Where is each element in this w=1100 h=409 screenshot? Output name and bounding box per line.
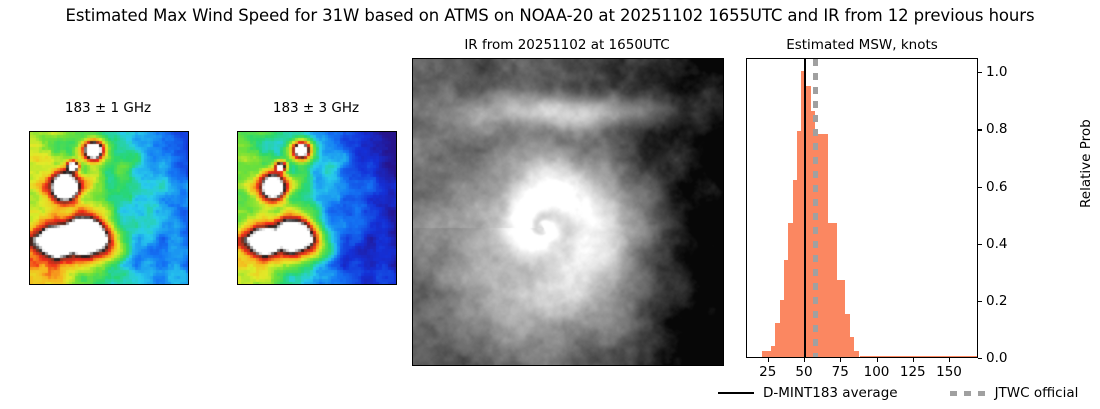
dotted-line-swatch-icon [950, 391, 986, 396]
histogram-title: Estimated MSW, knots [746, 37, 978, 53]
x-axis-tick [768, 358, 769, 362]
legend-label-jtwc: JTWC official [995, 385, 1079, 401]
y-axis-tick [978, 72, 982, 73]
y-axis-tick-label: 0.0 [986, 350, 1007, 366]
x-axis-tick-label: 100 [864, 364, 890, 380]
y-axis-label: Relative Prob [1078, 119, 1094, 208]
y-axis-tick-label: 1.0 [986, 64, 1007, 80]
x-axis-tick [949, 358, 950, 362]
x-axis-tick-label: 25 [759, 364, 776, 380]
y-axis-tick [978, 129, 982, 130]
microwave-1-title: 183 ± 1 GHz [28, 100, 188, 116]
histogram-baseline-tail [860, 356, 977, 358]
solid-line-swatch-icon [718, 392, 754, 394]
y-axis-tick-label: 0.8 [986, 121, 1007, 137]
figure-canvas: Estimated Max Wind Speed for 31W based o… [0, 0, 1100, 409]
jtwc-official-line [813, 59, 818, 357]
y-axis-tick-label: 0.6 [986, 179, 1007, 195]
x-axis-tick-label: 75 [832, 364, 849, 380]
microwave-183ghz-1-image [29, 131, 189, 285]
histogram-plot-area [747, 59, 977, 357]
x-axis-tick-label: 150 [936, 364, 962, 380]
infrared-canvas [413, 59, 723, 365]
legend-item-jtwc: JTWC official [950, 385, 1079, 401]
x-axis-tick-label: 50 [795, 364, 812, 380]
y-axis-tick [978, 244, 982, 245]
legend-item-dmint183: D-MINT183 average [718, 385, 898, 401]
x-axis-tick [840, 358, 841, 362]
microwave-1-canvas [30, 132, 188, 284]
x-axis-tick-label: 125 [900, 364, 926, 380]
microwave-2-canvas [238, 132, 396, 284]
legend-label-dmint183: D-MINT183 average [763, 385, 898, 401]
y-axis-tick [978, 301, 982, 302]
microwave-183ghz-3-image [237, 131, 397, 285]
y-axis-tick-label: 0.4 [986, 236, 1007, 252]
y-axis-tick [978, 358, 982, 359]
y-axis-tick [978, 187, 982, 188]
x-axis-tick [877, 358, 878, 362]
dmint183-average-line [804, 59, 806, 357]
infrared-panel-title: IR from 20251102 at 1650UTC [411, 37, 723, 53]
x-axis-tick [913, 358, 914, 362]
msw-histogram-axes [746, 58, 978, 358]
x-axis-tick [804, 358, 805, 362]
microwave-2-title: 183 ± 3 GHz [236, 100, 396, 116]
histogram-legend: D-MINT183 average JTWC official [718, 385, 1078, 401]
figure-suptitle: Estimated Max Wind Speed for 31W based o… [0, 6, 1100, 25]
histogram-bar [854, 351, 859, 357]
y-axis-tick-label: 0.2 [986, 293, 1007, 309]
infrared-satellite-image [412, 58, 724, 366]
